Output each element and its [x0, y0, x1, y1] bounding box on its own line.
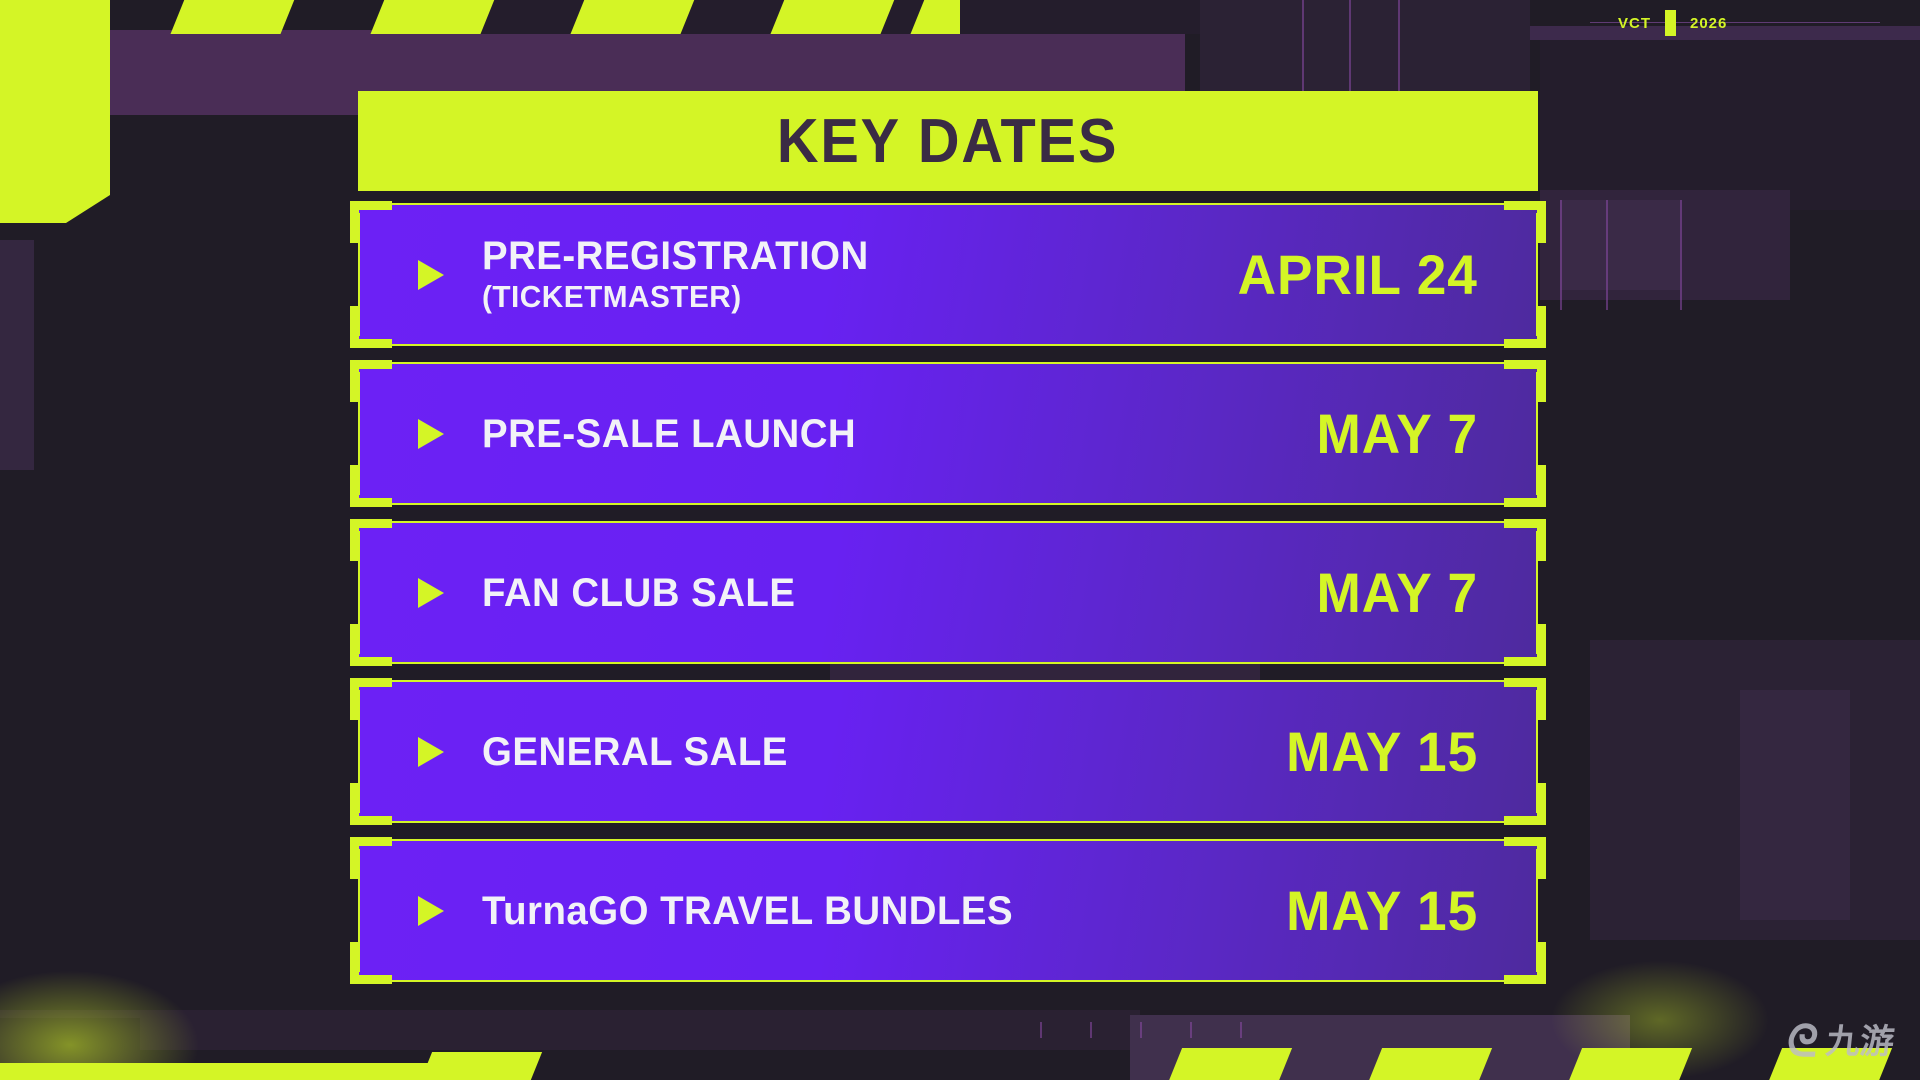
vertical-bar-icon: [1665, 10, 1676, 36]
glitch-line: [1040, 1022, 1042, 1038]
row-border-bottom: [368, 503, 1528, 505]
bg-block-right-mid: [1590, 640, 1920, 940]
hazard-stripes-top: [0, 0, 960, 34]
key-date-label-block: GENERAL SALE: [482, 731, 801, 773]
glitch-line: [1140, 1022, 1142, 1038]
vct-logo-text: VCT: [1618, 15, 1651, 32]
glitch-line: [1606, 200, 1608, 310]
lime-corner-shape-topleft-taper: [0, 195, 110, 223]
key-date-value: MAY 7: [1317, 560, 1479, 625]
lime-bar-bottomleft: [0, 1063, 445, 1080]
glitch-line: [1090, 1022, 1092, 1038]
row-border-bottom: [368, 662, 1528, 664]
glitch-line: [1680, 200, 1682, 310]
key-date-label-block: PRE-SALE LAUNCH: [482, 413, 872, 455]
row-border-top: [368, 839, 1528, 841]
glitch-line: [1560, 200, 1562, 310]
watermark-jiuyou: ᘓ 九游: [1787, 1020, 1894, 1064]
list-item[interactable]: FAN CLUB SALE MAY 7: [358, 521, 1538, 664]
arrow-right-icon: [418, 737, 444, 767]
key-date-value: MAY 15: [1286, 719, 1478, 784]
lime-glow-bottomleft: [0, 970, 200, 1080]
key-date-row[interactable]: FAN CLUB SALE MAY 7: [358, 521, 1538, 664]
key-dates-header: KEY DATES: [358, 91, 1538, 191]
row-border-top: [368, 203, 1528, 205]
key-date-label-block: PRE-REGISTRATION (TICKETMASTER): [482, 235, 885, 315]
key-date-sublabel: (TICKETMASTER): [482, 279, 869, 315]
row-border-bottom: [368, 821, 1528, 823]
key-date-label-block: TurnaGO TRAVEL BUNDLES: [482, 890, 1035, 932]
list-item[interactable]: TurnaGO TRAVEL BUNDLES MAY 15: [358, 839, 1538, 982]
list-item[interactable]: PRE-REGISTRATION (TICKETMASTER) APRIL 24: [358, 203, 1538, 346]
bg-block-left-edge: [0, 240, 34, 470]
key-date-label: FAN CLUB SALE: [482, 572, 795, 614]
key-dates-list: PRE-REGISTRATION (TICKETMASTER) APRIL 24…: [358, 203, 1538, 998]
jiuyou-logo-text: 九游: [1824, 1025, 1896, 1059]
key-date-value: MAY 15: [1286, 878, 1478, 943]
key-date-label: PRE-SALE LAUNCH: [482, 413, 856, 455]
arrow-right-icon: [418, 260, 444, 290]
bg-block-right-panel: [1540, 190, 1790, 300]
key-date-row[interactable]: PRE-SALE LAUNCH MAY 7: [358, 362, 1538, 505]
row-border-top: [368, 362, 1528, 364]
row-border-bottom: [368, 344, 1528, 346]
list-item[interactable]: GENERAL SALE MAY 15: [358, 680, 1538, 823]
hazard-stripes-bottomleft: [420, 1052, 690, 1080]
key-date-label: TurnaGO TRAVEL BUNDLES: [482, 890, 1013, 932]
row-border-bottom: [368, 980, 1528, 982]
list-item[interactable]: PRE-SALE LAUNCH MAY 7: [358, 362, 1538, 505]
key-date-value: MAY 7: [1317, 401, 1479, 466]
row-border-top: [368, 680, 1528, 682]
key-date-label-block: FAN CLUB SALE: [482, 572, 809, 614]
vct-logo: VCT 2026: [1618, 10, 1727, 36]
key-date-label: PRE-REGISTRATION: [482, 235, 869, 277]
bg-block-bottom-mid: [0, 1018, 140, 1080]
key-date-row[interactable]: GENERAL SALE MAY 15: [358, 680, 1538, 823]
bg-block-bottomleft: [0, 1010, 1140, 1050]
bg-block-right-mid-2: [1740, 690, 1850, 920]
page-title: KEY DATES: [777, 106, 1118, 177]
row-border-top: [368, 521, 1528, 523]
key-date-value: APRIL 24: [1238, 242, 1478, 307]
bg-block-right-panel-2: [1560, 200, 1680, 290]
key-date-row[interactable]: TurnaGO TRAVEL BUNDLES MAY 15: [358, 839, 1538, 982]
key-date-row[interactable]: PRE-REGISTRATION (TICKETMASTER) APRIL 24: [358, 203, 1538, 346]
bg-block-topright-c: [1540, 40, 1920, 210]
glitch-line: [1190, 1022, 1192, 1038]
slide-canvas: VCT 2026 KEY DATES PRE-REGISTRATION (TIC…: [0, 0, 1920, 1080]
jiuyou-logo-icon: ᘓ: [1785, 1020, 1821, 1064]
arrow-right-icon: [418, 896, 444, 926]
glitch-line: [1240, 1022, 1242, 1038]
arrow-right-icon: [418, 419, 444, 449]
arrow-right-icon: [418, 578, 444, 608]
key-date-label: GENERAL SALE: [482, 731, 788, 773]
vct-logo-year: 2026: [1690, 15, 1727, 32]
